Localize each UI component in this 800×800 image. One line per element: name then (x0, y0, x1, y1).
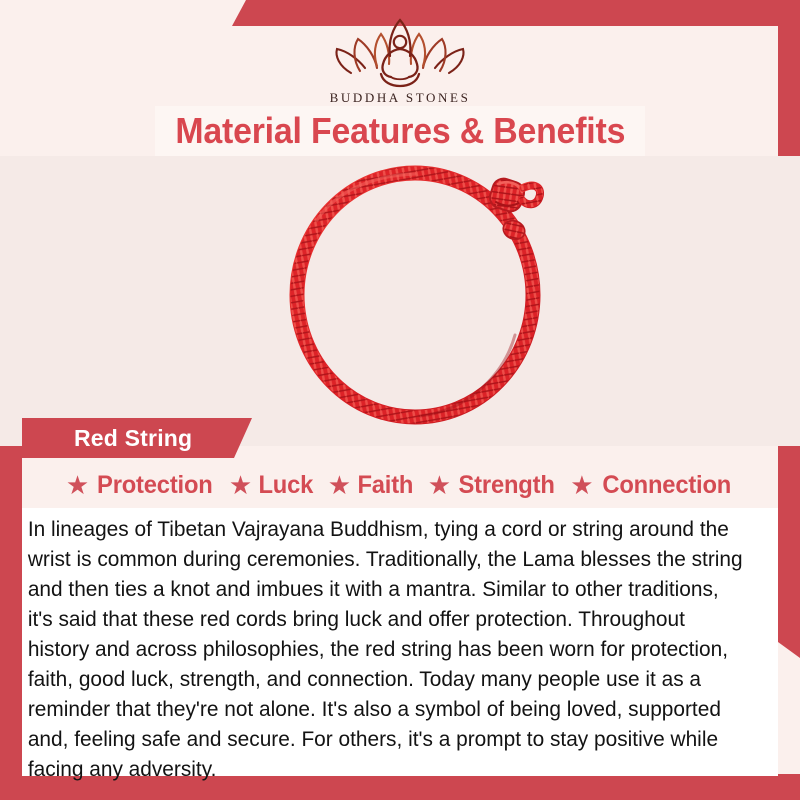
red-string-ribbon: Red String (22, 418, 252, 458)
infographic-root: BUDDHA STONES Material Features & Benefi… (0, 0, 800, 800)
product-photo-stage (0, 156, 800, 446)
benefit-label: Protection (97, 471, 213, 500)
benefit-protection: ★ Protection (66, 471, 216, 500)
benefit-label: Connection (602, 471, 731, 500)
benefit-label: Faith (358, 471, 414, 500)
lotus-meditation-icon (325, 16, 475, 88)
benefit-label: Strength (459, 471, 555, 500)
benefits-row: ★ Protection ★ Luck ★ Faith ★ Strength ★… (22, 466, 778, 504)
brand-logo: BUDDHA STONES (0, 16, 800, 106)
star-icon: ★ (328, 472, 351, 498)
description-text: In lineages of Tibetan Vajrayana Buddhis… (22, 508, 755, 784)
benefit-faith: ★ Faith (328, 471, 415, 500)
star-icon: ★ (229, 472, 252, 498)
benefit-strength: ★ Strength (428, 471, 557, 500)
ribbon-label: Red String (74, 425, 192, 452)
benefit-label: Luck (259, 471, 314, 500)
star-icon: ★ (570, 472, 593, 498)
title-banner: Material Features & Benefits (155, 106, 645, 156)
brand-wordmark: BUDDHA STONES (0, 90, 800, 106)
benefit-connection: ★ Connection (570, 471, 734, 500)
star-icon: ★ (66, 472, 89, 498)
description-panel: In lineages of Tibetan Vajrayana Buddhis… (22, 508, 778, 776)
red-string-bracelet-photo (265, 156, 575, 446)
star-icon: ★ (428, 472, 451, 498)
benefit-luck: ★ Luck (229, 471, 315, 500)
page-title: Material Features & Benefits (175, 110, 625, 152)
